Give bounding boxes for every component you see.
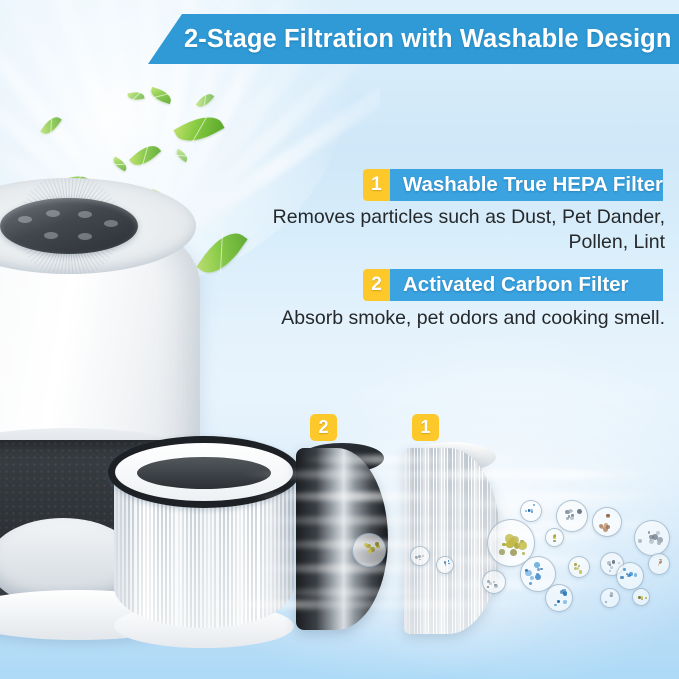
hepa-pleat bbox=[464, 448, 466, 634]
particle-dot bbox=[606, 525, 611, 530]
particle-dot bbox=[657, 541, 661, 545]
control-dot bbox=[46, 210, 60, 217]
particle-dot bbox=[623, 568, 625, 570]
particle-cluster bbox=[592, 507, 622, 537]
particle-dot bbox=[638, 539, 642, 543]
particle-dot bbox=[574, 563, 577, 566]
particle-cluster bbox=[520, 500, 542, 522]
leaf bbox=[149, 87, 173, 104]
feature-body-2: Absorb smoke, pet odors and cooking smel… bbox=[230, 306, 665, 331]
particle-dot bbox=[444, 561, 446, 563]
particle-dot bbox=[658, 564, 660, 566]
particle-dot bbox=[419, 559, 421, 561]
particle-cluster bbox=[556, 500, 588, 532]
hepa-pleat bbox=[407, 448, 409, 634]
particle-dot bbox=[415, 556, 418, 559]
control-dot bbox=[44, 232, 58, 239]
particle-dot bbox=[371, 547, 374, 550]
particle-dot bbox=[579, 570, 583, 574]
particle-cluster bbox=[352, 533, 386, 567]
feature-heading-1: 1 Washable True HEPA Filter bbox=[363, 169, 663, 201]
particle-dot bbox=[612, 560, 616, 564]
particle-dot bbox=[645, 597, 647, 599]
leaf bbox=[129, 140, 161, 171]
particle-dot bbox=[641, 598, 643, 600]
hepa-pleat bbox=[466, 448, 468, 634]
control-dot bbox=[78, 233, 92, 240]
hepa-pleat bbox=[437, 448, 439, 634]
particle-cluster bbox=[436, 556, 454, 574]
control-dot bbox=[18, 216, 32, 223]
hepa-pleat bbox=[475, 448, 477, 634]
hepa-pleat bbox=[410, 448, 412, 634]
hepa-pleat bbox=[472, 448, 474, 634]
hepa-pleat bbox=[442, 448, 444, 634]
particle-dot bbox=[648, 531, 650, 533]
particle-dot bbox=[620, 576, 624, 580]
particle-dot bbox=[628, 574, 632, 578]
particle-dot bbox=[499, 549, 504, 554]
filter-pleat bbox=[124, 470, 126, 628]
banner-title: 2-Stage Filtration with Washable Design bbox=[148, 25, 672, 54]
hepa-pleat bbox=[418, 448, 420, 634]
leaf bbox=[174, 149, 189, 163]
particle-dot bbox=[529, 582, 531, 584]
particle-cluster bbox=[632, 588, 650, 606]
particle-dot bbox=[570, 516, 574, 520]
hepa-pleat bbox=[456, 448, 458, 634]
filter-pleat bbox=[120, 470, 122, 628]
feature-heading-2: 2 Activated Carbon Filter bbox=[363, 269, 663, 301]
particle-dot bbox=[577, 509, 582, 514]
particle-dot bbox=[510, 549, 517, 556]
hepa-pleat bbox=[412, 448, 414, 634]
filter-pleat bbox=[292, 470, 294, 628]
particle-dot bbox=[448, 563, 450, 565]
particle-dot bbox=[537, 568, 540, 571]
particle-dot bbox=[530, 576, 534, 580]
hepa-pleat bbox=[434, 448, 436, 634]
particle-dot bbox=[606, 514, 610, 518]
particle-dot bbox=[568, 515, 570, 517]
particle-dot bbox=[638, 596, 641, 599]
feature-heading-label-2: Activated Carbon Filter bbox=[390, 269, 663, 301]
particle-dot bbox=[540, 568, 542, 570]
hepa-pleat bbox=[445, 448, 447, 634]
particle-cluster bbox=[482, 570, 506, 594]
hepa-pleat bbox=[423, 448, 425, 634]
particle-dot bbox=[525, 510, 527, 512]
particle-cluster bbox=[545, 584, 573, 612]
feature-heading-label-1: Washable True HEPA Filter bbox=[390, 169, 663, 201]
leaf bbox=[111, 157, 129, 172]
particle-dot bbox=[649, 539, 654, 544]
particle-dot bbox=[534, 562, 540, 568]
feature-number-badge-2: 2 bbox=[363, 269, 390, 301]
particle-dot bbox=[605, 601, 607, 603]
particle-dot bbox=[525, 570, 531, 576]
particle-cluster bbox=[648, 553, 670, 575]
particle-cluster bbox=[616, 562, 644, 590]
hepa-pleat bbox=[431, 448, 433, 634]
leaf bbox=[127, 91, 144, 102]
leaf bbox=[196, 91, 214, 111]
particle-dot bbox=[536, 573, 538, 575]
particle-dot bbox=[659, 561, 662, 564]
particle-dot bbox=[634, 573, 638, 577]
hepa-pleat bbox=[461, 448, 463, 634]
hepa-pleat bbox=[477, 448, 479, 634]
hepa-pleat bbox=[453, 448, 455, 634]
control-dot bbox=[104, 220, 118, 227]
particle-dot bbox=[502, 543, 506, 547]
particle-cluster bbox=[568, 556, 590, 578]
hepa-pleat bbox=[439, 448, 441, 634]
filter-pleat bbox=[116, 470, 118, 628]
purifier-control-panel bbox=[0, 198, 138, 254]
hepa-pleat bbox=[483, 448, 485, 634]
particle-cluster bbox=[410, 546, 430, 566]
filter-pleat bbox=[284, 470, 286, 628]
feature-body-1: Removes particles such as Dust, Pet Dand… bbox=[230, 205, 665, 255]
particle-dot bbox=[566, 517, 569, 520]
cylindrical-hepa-filter bbox=[108, 436, 300, 641]
particle-cluster bbox=[634, 520, 670, 556]
feature-number-badge-1: 1 bbox=[363, 169, 390, 201]
particle-dot bbox=[535, 574, 541, 580]
particle-dot bbox=[518, 541, 527, 550]
particle-dot bbox=[554, 604, 556, 606]
particle-dot bbox=[487, 586, 489, 588]
hepa-pleat bbox=[426, 448, 428, 634]
hepa-pleat bbox=[480, 448, 482, 634]
particle-dot bbox=[563, 600, 567, 604]
particle-dot bbox=[533, 504, 535, 506]
particle-dot bbox=[553, 540, 556, 543]
leaf bbox=[40, 113, 62, 137]
particle-dot bbox=[494, 584, 496, 586]
hepa-pleat bbox=[458, 448, 460, 634]
hepa-pleat bbox=[450, 448, 452, 634]
particle-dot bbox=[610, 566, 613, 569]
air-purifier-unit bbox=[0, 178, 200, 478]
filter-top-seal-ring bbox=[108, 436, 300, 508]
particle-dot bbox=[578, 565, 580, 567]
particle-cluster bbox=[600, 588, 620, 608]
hepa-pleat bbox=[448, 448, 450, 634]
diagram-step-badge-1: 1 bbox=[412, 414, 439, 441]
particle-dot bbox=[562, 589, 564, 591]
particle-dot bbox=[569, 509, 572, 512]
hepa-pleat bbox=[469, 448, 471, 634]
hepa-pleat bbox=[421, 448, 423, 634]
particle-dot bbox=[422, 555, 424, 557]
particle-dot bbox=[418, 555, 421, 558]
filter-pleat bbox=[288, 470, 290, 628]
hepa-pleat bbox=[429, 448, 431, 634]
hepa-pleat bbox=[415, 448, 417, 634]
particle-dot bbox=[493, 581, 495, 583]
control-dot bbox=[78, 211, 92, 218]
particle-dot bbox=[445, 564, 447, 566]
particle-dot bbox=[448, 560, 450, 562]
particle-dot bbox=[364, 543, 368, 547]
diagram-step-badge-2: 2 bbox=[310, 414, 337, 441]
product-feature-image: 2-Stage Filtration with Washable Design … bbox=[0, 0, 679, 679]
particle-dot bbox=[618, 562, 620, 564]
particle-dot bbox=[489, 582, 492, 585]
leaf bbox=[174, 108, 225, 149]
title-banner: 2-Stage Filtration with Washable Design bbox=[148, 14, 679, 64]
particle-dot bbox=[522, 552, 525, 555]
particle-dot bbox=[609, 570, 611, 572]
particle-dot bbox=[557, 600, 560, 603]
hepa-pleated-panel bbox=[404, 448, 500, 634]
airflow-streak bbox=[500, 470, 650, 479]
particle-cluster bbox=[545, 528, 564, 547]
particle-dot bbox=[599, 524, 603, 528]
